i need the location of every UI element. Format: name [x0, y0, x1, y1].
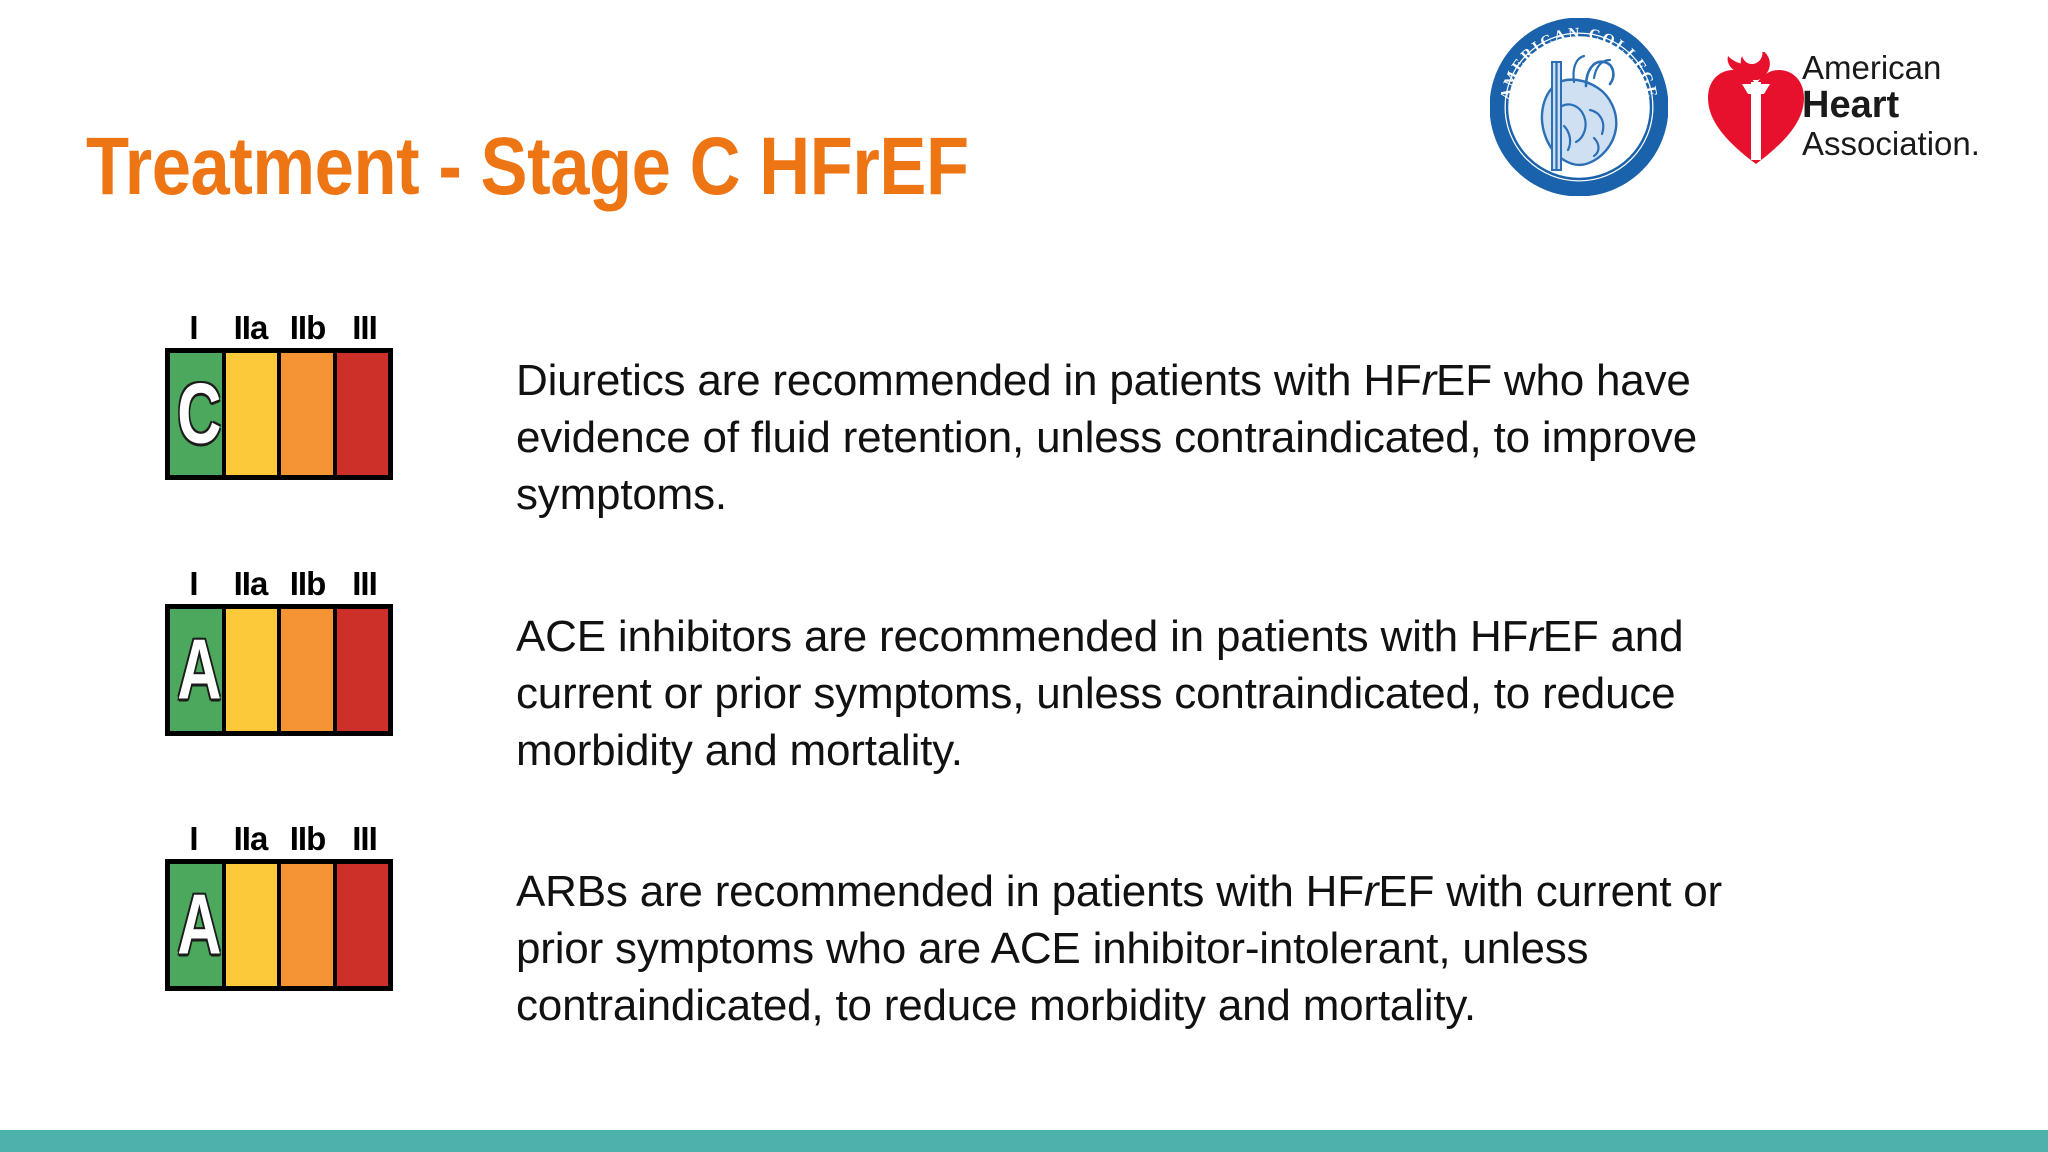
- cor-header-iia: IIa: [222, 822, 279, 855]
- cor-header-iii: III: [336, 567, 393, 600]
- cor-header-iib: IIb: [279, 311, 336, 344]
- logo-zone: • AMERICAN COLLEGE • OF CARDIOLOGY: [1490, 18, 2035, 193]
- recommendation-text: ACE inhibitors are recommended in patien…: [516, 608, 1736, 779]
- aha-text-heart: Heart: [1802, 85, 1980, 126]
- cor-cell-iii: [337, 353, 389, 475]
- rec-text-italic-r: r: [1528, 612, 1542, 661]
- cor-header-i: I: [165, 567, 222, 600]
- cor-cell-iib: [281, 353, 337, 475]
- page-title: Treatment - Stage C HFrEF: [86, 126, 969, 208]
- cor-cell-iib: [281, 609, 337, 731]
- cor-cell-i: C: [170, 353, 226, 475]
- loe-letter: A: [177, 628, 214, 713]
- cor-color-grid: A: [165, 604, 393, 736]
- rec-text-italic-r: r: [1364, 867, 1378, 916]
- cor-header-iib: IIb: [279, 567, 336, 600]
- cor-color-grid: A: [165, 859, 393, 991]
- aha-text-association: Association.: [1802, 126, 1980, 161]
- aha-logo: American Heart Association.: [1702, 48, 2032, 173]
- cor-cell-i: A: [170, 864, 226, 986]
- cor-cell-iii: [337, 864, 389, 986]
- rec-text-before: ACE inhibitors are recommended in patien…: [516, 612, 1528, 661]
- cor-header-row: I IIa IIb III: [165, 562, 393, 600]
- cor-cell-iia: [226, 353, 282, 475]
- aha-heart-torch-icon: [1702, 52, 1810, 167]
- bottom-accent-bar: [0, 1130, 2048, 1152]
- cor-header-iia: IIa: [222, 567, 279, 600]
- cor-loe-block: I IIa IIb III A: [165, 562, 393, 736]
- cor-cell-iia: [226, 609, 282, 731]
- cor-cell-iii: [337, 609, 389, 731]
- rec-text-italic-r: r: [1422, 356, 1436, 405]
- recommendation-text: ARBs are recommended in patients with HF…: [516, 863, 1736, 1034]
- cor-header-iii: III: [336, 822, 393, 855]
- loe-letter: C: [177, 372, 214, 457]
- cor-header-iib: IIb: [279, 822, 336, 855]
- acc-seal-logo: • AMERICAN COLLEGE • OF CARDIOLOGY: [1490, 18, 1668, 196]
- cor-loe-block: I IIa IIb III C: [165, 306, 393, 480]
- cor-header-i: I: [165, 311, 222, 344]
- rec-text-before: ARBs are recommended in patients with HF: [516, 867, 1364, 916]
- recommendation-text: Diuretics are recommended in patients wi…: [516, 352, 1736, 523]
- cor-cell-iia: [226, 864, 282, 986]
- cor-loe-block: I IIa IIb III A: [165, 817, 393, 991]
- cor-color-grid: C: [165, 348, 393, 480]
- cor-header-row: I IIa IIb III: [165, 306, 393, 344]
- loe-letter: A: [177, 883, 214, 968]
- rec-text-before: Diuretics are recommended in patients wi…: [516, 356, 1422, 405]
- cor-header-row: I IIa IIb III: [165, 817, 393, 855]
- slide-canvas: Treatment - Stage C HFrEF • AMERICAN COL…: [0, 0, 2048, 1152]
- cor-cell-i: A: [170, 609, 226, 731]
- cor-header-iia: IIa: [222, 311, 279, 344]
- cor-cell-iib: [281, 864, 337, 986]
- cor-header-iii: III: [336, 311, 393, 344]
- aha-text-american: American: [1802, 50, 1980, 85]
- aha-wordmark: American Heart Association.: [1802, 50, 1980, 161]
- cor-header-i: I: [165, 822, 222, 855]
